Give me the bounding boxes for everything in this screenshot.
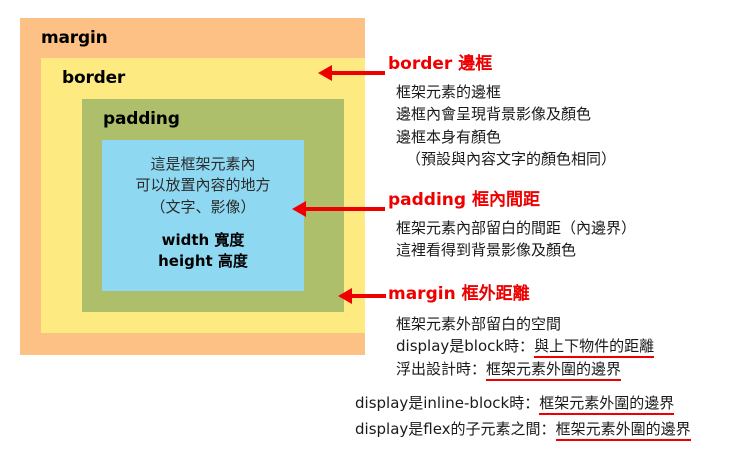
margin-line-2-prefix: display是block時： <box>396 337 534 355</box>
content-text-line-2: 可以放置內容的地方 <box>135 175 270 196</box>
border-annotation-heading: border 邊框 <box>388 55 750 74</box>
box-model-diagram: margin border padding 這是框架元素內 可以放置內容的地方 … <box>20 18 365 355</box>
margin-annotation-line-3: 浮出設計時：框架元素外圍的邊界 <box>396 358 750 381</box>
content-text-line-3: （文字、影像） <box>150 197 255 218</box>
margin-annotation-body: 框架元素外部留白的空間 display是block時：與上下物件的距離 浮出設計… <box>396 313 750 381</box>
border-annotation-line-2: 邊框內會呈現背景影像及顏色 <box>396 103 750 126</box>
padding-annotation-line-2: 這裡看得到背景影像及顏色 <box>396 239 750 262</box>
padding-annotation-heading: padding 框內間距 <box>388 191 750 210</box>
extra-line-2-prefix: display是flex的子元素之間： <box>355 420 556 438</box>
margin-pointer-arrow-icon <box>338 287 386 305</box>
extra-line-2-underlined: 框架元素外圍的邊界 <box>556 420 691 441</box>
extra-annotation-block: display是inline-block時：框架元素外圍的邊界 display是… <box>355 392 750 443</box>
content-height-label: height 高度 <box>158 251 248 272</box>
margin-layer-label: margin <box>41 30 107 47</box>
content-text-line-1: 這是框架元素內 <box>150 154 255 175</box>
extra-annotation-line-2: display是flex的子元素之間：框架元素外圍的邊界 <box>355 418 750 441</box>
padding-annotation-line-1: 框架元素內部留白的間距（內邊界） <box>396 217 750 240</box>
padding-annotation-body: 框架元素內部留白的間距（內邊界） 這裡看得到背景影像及顏色 <box>396 217 750 262</box>
margin-annotation-heading: margin 框外距離 <box>388 285 750 304</box>
content-width-label: width 寬度 <box>158 230 248 251</box>
arrow-shaft <box>329 71 385 75</box>
arrow-shaft <box>303 207 385 211</box>
content-layer: 這是框架元素內 可以放置內容的地方 （文字、影像） width 寬度 heigh… <box>102 140 304 291</box>
border-annotation-line-3: 邊框本身有顏色 <box>396 126 750 149</box>
border-layer: border padding 這是框架元素內 可以放置內容的地方 （文字、影像）… <box>41 58 365 333</box>
margin-line-3-prefix: 浮出設計時： <box>396 360 486 378</box>
extra-line-1-prefix: display是inline-block時： <box>355 394 539 412</box>
arrow-shaft <box>349 294 386 298</box>
margin-annotation-line-1: 框架元素外部留白的空間 <box>396 313 750 336</box>
margin-annotation-line-2: display是block時：與上下物件的距離 <box>396 335 750 358</box>
border-layer-label: border <box>62 70 125 87</box>
border-annotation-line-4: （預設與內容文字的顏色相同） <box>396 148 750 171</box>
margin-annotation-block: margin 框外距離 框架元素外部留白的空間 display是block時：與… <box>388 285 750 380</box>
margin-line-2-underlined: 與上下物件的距離 <box>534 337 654 358</box>
margin-line-3-underlined: 框架元素外圍的邊界 <box>486 360 621 381</box>
extra-line-1-underlined: 框架元素外圍的邊界 <box>539 394 674 415</box>
border-pointer-arrow-icon <box>318 64 385 82</box>
padding-pointer-arrow-icon <box>292 200 385 218</box>
border-annotation-line-1: 框架元素的邊框 <box>396 81 750 104</box>
extra-annotation-line-1: display是inline-block時：框架元素外圍的邊界 <box>355 392 750 415</box>
border-annotation-block: border 邊框 框架元素的邊框 邊框內會呈現背景影像及顏色 邊框本身有顏色 … <box>388 55 750 171</box>
padding-layer-label: padding <box>103 111 180 128</box>
border-annotation-body: 框架元素的邊框 邊框內會呈現背景影像及顏色 邊框本身有顏色 （預設與內容文字的顏… <box>396 81 750 171</box>
padding-annotation-block: padding 框內間距 框架元素內部留白的間距（內邊界） 這裡看得到背景影像及… <box>388 191 750 262</box>
